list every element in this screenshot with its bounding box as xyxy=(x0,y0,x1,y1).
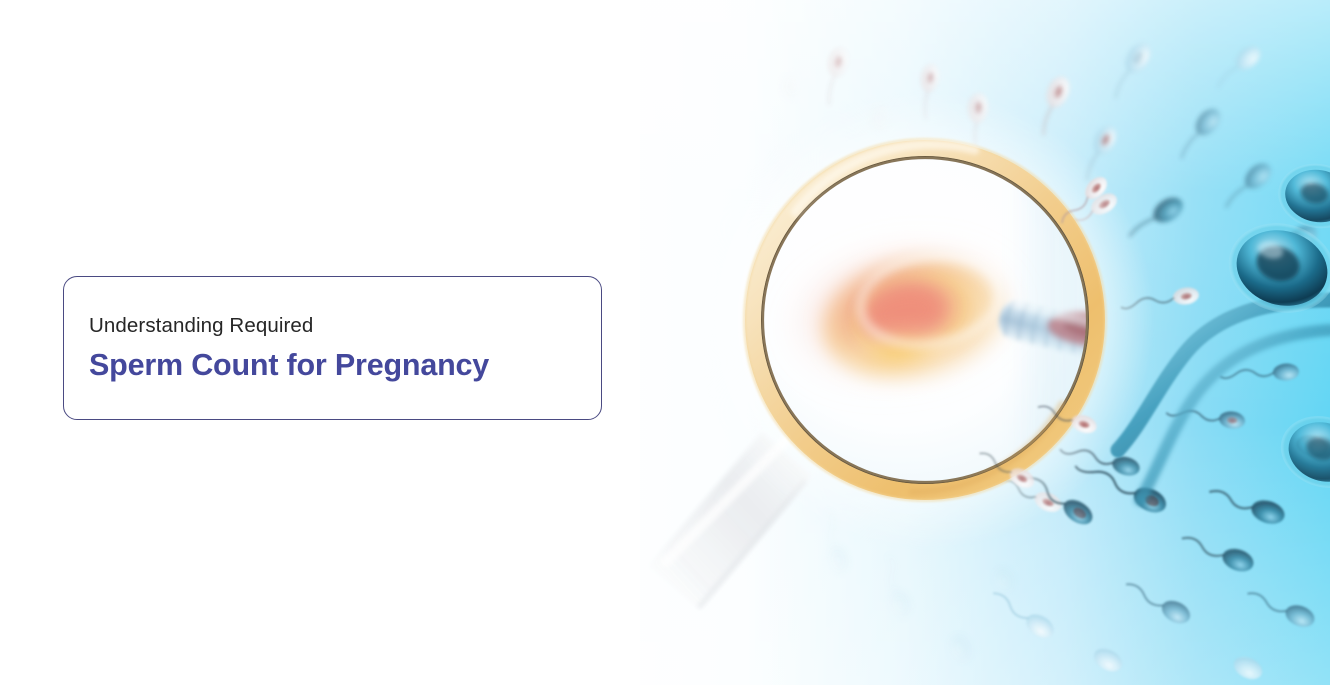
banner-root: Understanding Required Sperm Count for P… xyxy=(0,0,1330,685)
eyebrow-text: Understanding Required xyxy=(89,313,601,339)
page-title: Sperm Count for Pregnancy xyxy=(89,347,601,384)
headline-card: Understanding Required Sperm Count for P… xyxy=(63,276,602,420)
